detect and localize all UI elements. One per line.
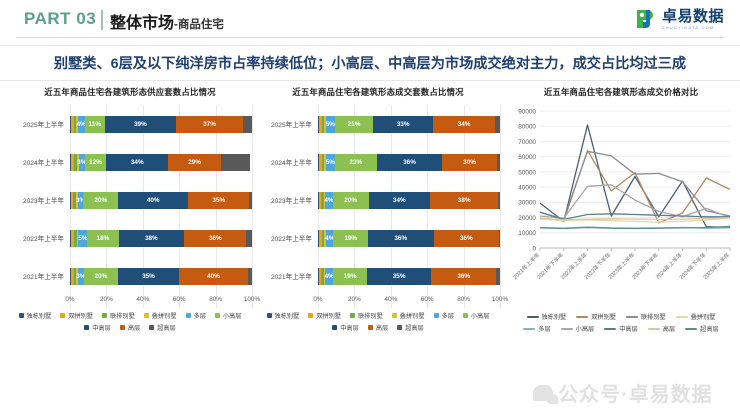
bar-segment-多层: 4%	[78, 116, 85, 133]
bar-segment-小高层: 19%	[333, 230, 368, 247]
bar-segment-超高层	[495, 116, 500, 133]
legend-swatch-icon	[397, 325, 402, 330]
legend-item-联排别墅[interactable]: 联排别墅	[350, 311, 383, 320]
legend-item-独栋别墅[interactable]: 独栋别墅	[527, 312, 567, 321]
bar-track: 4%20%34%38%	[318, 192, 500, 209]
bar-segment-高层: 29%	[168, 154, 221, 171]
legend-item-联排别墅[interactable]: 联排别墅	[102, 311, 135, 320]
bar-segment-小高层: 12%	[85, 154, 107, 171]
legend-label: 联排别墅	[110, 311, 135, 320]
bar-segment-value: 34%	[458, 121, 471, 128]
bar-segment-value: 40%	[147, 197, 160, 204]
bar-segment-value: 40%	[207, 273, 220, 280]
price-line-chart-svg: 0100002000030000400005000060000700008000…	[506, 105, 736, 310]
y-axis-tick: 20000	[518, 215, 536, 222]
legend-label: 小高层	[471, 311, 490, 320]
bar-segment-超高层	[243, 116, 252, 133]
legend-item-中高层[interactable]: 中高层	[332, 323, 359, 332]
legend-label: 高层	[128, 323, 140, 332]
bar-segment-高层: 34%	[433, 116, 495, 133]
legend-swatch-icon	[561, 328, 573, 330]
legend-item-多层[interactable]: 多层	[434, 311, 454, 320]
legend-swatch-icon	[350, 313, 355, 318]
bar-segment-value: 36%	[457, 273, 470, 280]
part-label: PART 03	[24, 9, 96, 29]
bar-segment-小高层: 20%	[83, 192, 118, 209]
y-axis-tick: 80000	[518, 124, 536, 131]
bar-track: 5%21%33%34%	[318, 116, 500, 133]
bar-category-label: 2023年上半年	[256, 195, 318, 205]
legend-label: 联排别墅	[358, 311, 383, 320]
bar-segment-多层: 5%	[326, 154, 335, 171]
bar-segment-中高层: 33%	[373, 116, 433, 133]
bar-category-label: 2025年上半年	[256, 119, 318, 129]
bar-segment-value: 20%	[94, 273, 107, 280]
y-axis-tick: 30000	[518, 200, 536, 207]
legend-swatch-icon	[215, 313, 220, 318]
legend-label: 高层	[376, 323, 388, 332]
bar-segment-value: 36%	[394, 235, 407, 242]
bar-segment-小高层: 20%	[333, 192, 369, 209]
legend-label: 双拼别墅	[316, 311, 341, 320]
y-axis-tick: 70000	[518, 139, 536, 146]
x-axis-tick: 60%	[421, 296, 434, 303]
bar-track: 3%20%40%35%	[70, 192, 252, 209]
bar-category-label: 2024年上半年	[256, 157, 318, 167]
bar-segment-高层: 38%	[430, 192, 498, 209]
bar-segment-小高层: 23%	[335, 154, 377, 171]
legend-label: 独栋别墅	[275, 311, 300, 320]
x-axis-tick: 0%	[65, 296, 74, 303]
legend-label: 独栋别墅	[27, 311, 52, 320]
bar-segment-value: 35%	[212, 197, 225, 204]
bar-segment-中高层: 36%	[368, 230, 434, 247]
bar-segment-超高层	[498, 192, 500, 209]
chart-title-transaction-share: 近五年商品住宅各建筑形态成交套数占比情况	[256, 86, 500, 98]
bar-segment-value: 34%	[131, 159, 144, 166]
legend-item-超高层[interactable]: 超高层	[685, 324, 719, 333]
legend-label: 小高层	[223, 311, 242, 320]
bar-segment-中高层: 35%	[118, 268, 179, 285]
bar-segment-多层: 5%	[326, 116, 335, 133]
bar-segment-value: 23%	[349, 159, 362, 166]
bar-segment-value: 35%	[393, 273, 406, 280]
chart-legend-price: 独栋别墅双拼别墅联排别墅叠拼别墅多层小高层中高层高层超高层	[506, 312, 736, 333]
legend-swatch-icon	[685, 328, 697, 330]
bar-segment-value: 5%	[326, 121, 335, 128]
bar-segment-value: 30%	[463, 159, 476, 166]
bar-segment-超高层	[248, 268, 252, 285]
bar-segment-value: 34%	[393, 197, 406, 204]
legend-item-小高层[interactable]: 小高层	[561, 324, 595, 333]
bar-segment-value: 36%	[403, 159, 416, 166]
wechat-icon	[533, 385, 553, 401]
legend-swatch-icon	[60, 313, 65, 318]
bar-segment-小高层: 18%	[87, 230, 118, 247]
bar-segment-value: 33%	[397, 121, 410, 128]
legend-swatch-icon	[308, 313, 313, 318]
legend-swatch-icon	[149, 325, 154, 330]
bar-track: 5%23%36%30%	[318, 154, 500, 171]
legend-label: 独栋别墅	[542, 312, 567, 321]
legend-swatch-icon	[523, 328, 535, 330]
bar-row: 2022年上半年4%19%36%36%	[256, 219, 500, 257]
bar-segment-中高层: 36%	[377, 154, 443, 171]
bar-segment-value: 19%	[344, 235, 357, 242]
bar-category-label: 2021年上半年	[8, 271, 70, 281]
line-chart-price: 0100002000030000400005000060000700008000…	[506, 105, 736, 310]
legend-swatch-icon	[120, 325, 125, 330]
bar-segment-多层: 4%	[325, 268, 332, 285]
legend-item-超高层[interactable]: 超高层	[149, 323, 176, 332]
legend-swatch-icon	[463, 313, 468, 318]
watermark: 公众号·卓易数据	[533, 378, 713, 407]
bar-segment-value: 38%	[458, 197, 471, 204]
legend-swatch-icon	[604, 328, 616, 330]
legend-label: 双拼别墅	[68, 311, 93, 320]
legend-item-高层[interactable]: 高层	[368, 323, 388, 332]
x-axis-tick: 60%	[173, 296, 186, 303]
legend-swatch-icon	[527, 316, 539, 318]
bar-segment-value: 39%	[134, 121, 147, 128]
bar-track: 3%12%34%29%	[70, 154, 252, 171]
y-axis-tick: 40000	[518, 185, 536, 192]
bar-segment-value: 20%	[94, 197, 107, 204]
logo-subtext: ZHUOYIDATA.COM	[662, 26, 714, 30]
bar-segment-value: 36%	[209, 235, 222, 242]
x-axis-tick: 20%	[100, 296, 113, 303]
bar-segment-value: 11%	[89, 121, 101, 128]
y-axis-tick: 10000	[518, 230, 536, 237]
bar-segment-中高层: 40%	[118, 192, 188, 209]
legend-label: 多层	[442, 311, 454, 320]
logo-mark-icon	[633, 7, 657, 31]
bar-row: 2024年上半年3%12%34%29%	[8, 143, 252, 181]
header-rule	[16, 37, 724, 38]
bar-track: 5%18%38%36%	[70, 230, 252, 247]
legend-item-小高层[interactable]: 小高层	[215, 311, 242, 320]
chart-panel-transaction-share: 近五年商品住宅各建筑形态成交套数占比情况 2025年上半年5%21%33%34%…	[256, 86, 500, 332]
insight-banner-text: 别墅类、6层及以下纯洋房市占率持续低位；小高层、中高层为市场成交绝对主力，成交占…	[54, 53, 686, 73]
legend-item-高层[interactable]: 高层	[120, 323, 140, 332]
chart-title-supply-share: 近五年商品住宅各建筑形态供应套数占比情况	[8, 86, 252, 98]
legend-label: 中高层	[619, 324, 638, 333]
legend-swatch-icon	[392, 313, 397, 318]
legend-swatch-icon	[186, 313, 191, 318]
x-axis-tick: 40%	[384, 296, 397, 303]
stacked-bar-chart-supply: 2025年上半年4%11%39%37%2024年上半年3%12%34%29%20…	[8, 105, 252, 308]
bar-row: 2024年上半年5%23%36%30%	[256, 143, 500, 181]
legend-item-叠拼别墅[interactable]: 叠拼别墅	[144, 311, 177, 320]
legend-item-多层[interactable]: 多层	[186, 311, 206, 320]
bar-category-label: 2025年上半年	[8, 119, 70, 129]
legend-item-多层[interactable]: 多层	[523, 324, 550, 333]
page-title-main: 整体市场	[110, 15, 174, 32]
bar-track: 4%19%36%36%	[318, 230, 500, 247]
bar-segment-value: 5%	[326, 159, 335, 166]
watermark-text: 公众号·卓易数据	[558, 378, 713, 407]
legend-item-超高层[interactable]: 超高层	[397, 323, 424, 332]
slide-page: PART 03 整体市场-商品住宅 卓易数据 ZHUOYIDATA.COM 别墅…	[0, 0, 740, 417]
legend-label: 叠拼别墅	[400, 311, 425, 320]
bar-segment-value: 29%	[188, 159, 201, 166]
bar-segment-中高层: 34%	[369, 192, 430, 209]
bar-segment-超高层	[249, 192, 252, 209]
bar-segment-value: 36%	[460, 235, 473, 242]
y-axis-tick: 90000	[518, 108, 536, 115]
legend-swatch-icon	[626, 316, 638, 318]
bar-segment-超高层	[246, 230, 252, 247]
bar-segment-多层: 5%	[78, 230, 87, 247]
bar-row: 2023年上半年4%20%34%38%	[256, 181, 500, 219]
x-axis-tick: 40%	[136, 296, 149, 303]
legend-item-小高层[interactable]: 小高层	[463, 311, 490, 320]
legend-swatch-icon	[576, 316, 588, 318]
legend-item-双拼别墅[interactable]: 双拼别墅	[576, 312, 616, 321]
bar-segment-value: 5%	[78, 235, 87, 242]
chart-legend-transaction: 独栋别墅双拼别墅联排别墅叠拼别墅多层小高层中高层高层超高层	[256, 311, 500, 332]
legend-item-双拼别墅[interactable]: 双拼别墅	[60, 311, 93, 320]
legend-swatch-icon	[19, 313, 24, 318]
legend-item-叠拼别墅[interactable]: 叠拼别墅	[676, 312, 716, 321]
bar-segment-value: 37%	[203, 121, 216, 128]
bar-segment-小高层: 20%	[84, 268, 119, 285]
bar-track: 4%11%39%37%	[70, 116, 252, 133]
bar-segment-多层: 4%	[325, 192, 332, 209]
x-axis-tick: 80%	[457, 296, 470, 303]
legend-label: 中高层	[340, 323, 359, 332]
legend-swatch-icon	[144, 313, 149, 318]
bar-segment-超高层	[221, 154, 250, 171]
y-axis-tick: 50000	[518, 169, 536, 176]
legend-label: 超高层	[405, 323, 424, 332]
chart-panel-supply-share: 近五年商品住宅各建筑形态供应套数占比情况 2025年上半年4%11%39%37%…	[8, 86, 252, 332]
x-axis: 0%20%40%60%80%100%	[70, 296, 252, 308]
y-axis-tick: 60000	[518, 154, 536, 161]
stacked-bar-chart-transaction: 2025年上半年5%21%33%34%2024年上半年5%23%36%30%20…	[256, 105, 500, 308]
legend-label: 叠拼别墅	[152, 311, 177, 320]
legend-label: 多层	[538, 324, 550, 333]
chart-legend-supply: 独栋别墅双拼别墅联排别墅叠拼别墅多层小高层中高层高层超高层	[8, 311, 252, 332]
bar-segment-超高层	[497, 154, 500, 171]
legend-label: 超高层	[157, 323, 176, 332]
x-axis-tick: 80%	[209, 296, 222, 303]
legend-label: 中高层	[92, 323, 111, 332]
legend-swatch-icon	[434, 313, 439, 318]
bar-category-label: 2023年上半年	[8, 195, 70, 205]
y-axis-tick: 0	[532, 245, 536, 252]
bar-segment-中高层: 38%	[119, 230, 185, 247]
legend-label: 超高层	[700, 324, 719, 333]
bar-segment-value: 21%	[348, 121, 361, 128]
page-title: 整体市场-商品住宅	[110, 9, 224, 33]
legend-label: 双拼别墅	[591, 312, 616, 321]
bar-segment-value: 38%	[145, 235, 158, 242]
legend-swatch-icon	[267, 313, 272, 318]
legend-item-独栋别墅[interactable]: 独栋别墅	[19, 311, 52, 320]
brand-logo: 卓易数据 ZHUOYIDATA.COM	[633, 6, 724, 32]
bar-category-label: 2022年上半年	[8, 233, 70, 243]
bar-row: 2025年上半年5%21%33%34%	[256, 105, 500, 143]
chart-panel-price-comparison: 近五年商品住宅各建筑形态成交价格对比 010000200003000040000…	[506, 86, 736, 333]
bar-category-label: 2022年上半年	[256, 233, 318, 243]
legend-item-中高层[interactable]: 中高层	[604, 324, 638, 333]
bar-row: 2023年上半年3%20%40%35%	[8, 181, 252, 219]
bar-track: 4%19%35%36%	[318, 268, 500, 285]
bar-segment-value: 20%	[344, 197, 357, 204]
page-title-sub: -商品住宅	[174, 19, 224, 31]
x-axis-tick: 20%	[348, 296, 361, 303]
bar-segment-高层: 30%	[442, 154, 497, 171]
bar-track: 3%20%35%40%	[70, 268, 252, 285]
legend-item-中高层[interactable]: 中高层	[84, 323, 111, 332]
bar-segment-value: 19%	[344, 273, 357, 280]
legend-item-独栋别墅[interactable]: 独栋别墅	[267, 311, 300, 320]
bar-segment-value: 12%	[89, 159, 102, 166]
bar-segment-高层: 37%	[176, 116, 243, 133]
bar-segment-超高层	[496, 268, 499, 285]
bar-category-label: 2021年上半年	[256, 271, 318, 281]
chart-title-price-comparison: 近五年商品住宅各建筑形态成交价格对比	[506, 86, 736, 98]
bar-segment-中高层: 35%	[367, 268, 431, 285]
legend-swatch-icon	[332, 325, 337, 330]
bar-row: 2022年上半年5%18%38%36%	[8, 219, 252, 257]
bar-segment-小高层: 21%	[335, 116, 373, 133]
bar-row: 2021年上半年3%20%35%40%	[8, 257, 252, 295]
bar-segment-小高层: 19%	[333, 268, 368, 285]
legend-label: 高层	[663, 324, 675, 333]
header-divider	[101, 10, 103, 30]
bar-segment-中高层: 34%	[106, 154, 168, 171]
bar-segment-高层: 35%	[188, 192, 249, 209]
insight-banner: 别墅类、6层及以下纯洋房市占率持续低位；小高层、中高层为市场成交绝对主力，成交占…	[0, 45, 740, 81]
legend-swatch-icon	[102, 313, 107, 318]
legend-swatch-icon	[676, 316, 688, 318]
bar-segment-小高层: 11%	[85, 116, 105, 133]
x-axis: 0%20%40%60%80%100%	[318, 296, 500, 308]
legend-item-联排别墅[interactable]: 联排别墅	[626, 312, 666, 321]
bar-segment-高层: 40%	[179, 268, 248, 285]
bar-row: 2025年上半年4%11%39%37%	[8, 105, 252, 143]
x-axis-tick: 0%	[313, 296, 322, 303]
slide-header: PART 03 整体市场-商品住宅 卓易数据 ZHUOYIDATA.COM	[0, 0, 740, 37]
bar-segment-超高层	[499, 230, 500, 247]
legend-label: 联排别墅	[641, 312, 666, 321]
bar-segment-value: 18%	[97, 235, 110, 242]
legend-swatch-icon	[84, 325, 89, 330]
bar-segment-高层: 36%	[184, 230, 246, 247]
legend-label: 叠拼别墅	[691, 312, 716, 321]
bar-segment-中高层: 39%	[105, 116, 176, 133]
bar-segment-多层: 4%	[326, 230, 333, 247]
legend-swatch-icon	[368, 325, 373, 330]
bar-segment-高层: 36%	[431, 268, 497, 285]
legend-label: 小高层	[576, 324, 595, 333]
legend-label: 多层	[194, 311, 206, 320]
legend-item-高层[interactable]: 高层	[648, 324, 675, 333]
logo-text: 卓易数据	[662, 9, 724, 24]
legend-item-叠拼别墅[interactable]: 叠拼别墅	[392, 311, 425, 320]
bar-segment-value: 35%	[142, 273, 155, 280]
bar-category-label: 2024年上半年	[8, 157, 70, 167]
bar-segment-高层: 36%	[434, 230, 500, 247]
bar-row: 2021年上半年4%19%35%36%	[256, 257, 500, 295]
legend-swatch-icon	[648, 328, 660, 330]
legend-item-双拼别墅[interactable]: 双拼别墅	[308, 311, 341, 320]
